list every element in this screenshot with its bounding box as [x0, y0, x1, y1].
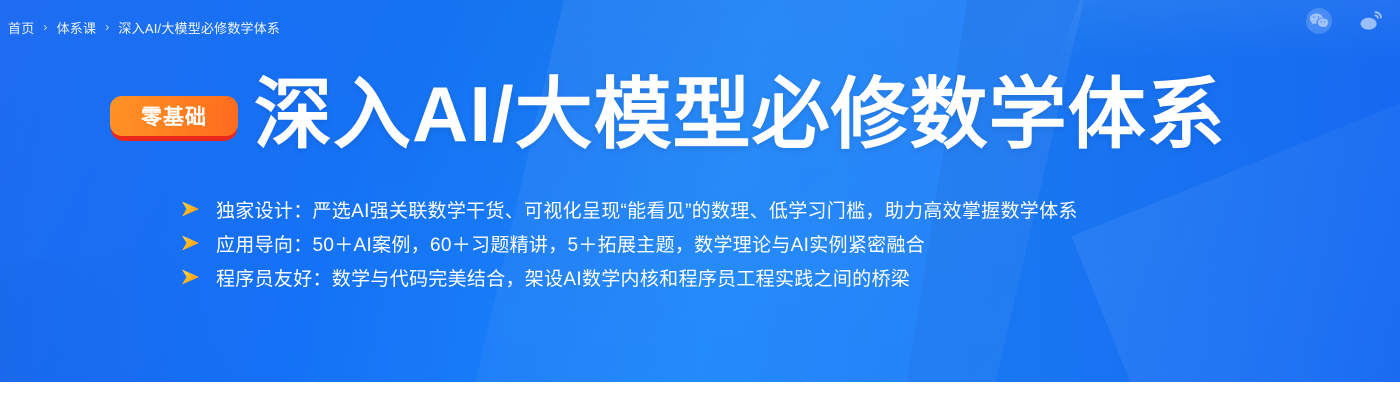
breadcrumb-item-current: 深入AI/大模型必修数学体系 [118, 18, 280, 37]
feature-item: 应用导向：50＋AI案例，60＋习题精讲，5＋拓展主题，数学理论与AI实例紧密融… [180, 226, 1078, 260]
level-badge-wrapper: 零基础 [110, 96, 238, 136]
breadcrumb-item-category[interactable]: 体系课 [57, 18, 97, 37]
breadcrumb-separator-icon: › [43, 21, 47, 33]
feature-item: 程序员友好：数学与代码完美结合，架设AI数学内核和程序员工程实践之间的桥梁 [180, 260, 1078, 294]
level-badge: 零基础 [110, 96, 238, 136]
arrow-bullet-icon [180, 200, 202, 218]
title-row: 零基础 深入AI/大模型必修数学体系 [110, 62, 1226, 166]
breadcrumb-separator-icon: › [105, 21, 109, 33]
background-facet-left [0, 0, 671, 382]
feature-item: 独家设计：严选AI强关联数学干货、可视化呈现“能看见”的数理、低学习门槛，助力高… [180, 192, 1078, 226]
background-facet-right-dark [885, 0, 1400, 382]
banner-page: 首页 › 体系课 › 深入AI/大模型必修数学体系 [0, 0, 1400, 400]
social-share-group [1304, 6, 1386, 36]
breadcrumb-item-home[interactable]: 首页 [8, 18, 34, 37]
feature-list: 独家设计：严选AI强关联数学干货、可视化呈现“能看见”的数理、低学习门槛，助力高… [180, 192, 1078, 294]
feature-text: 独家设计：严选AI强关联数学干货、可视化呈现“能看见”的数理、低学习门槛，助力高… [216, 196, 1078, 223]
feature-text: 程序员友好：数学与代码完美结合，架设AI数学内核和程序员工程实践之间的桥梁 [216, 264, 910, 291]
arrow-bullet-icon [180, 234, 202, 252]
background-facet-center [416, 0, 1144, 382]
page-title: 深入AI/大模型必修数学体系 [254, 75, 1226, 153]
course-hero-banner: 首页 › 体系课 › 深入AI/大模型必修数学体系 [0, 0, 1400, 382]
weibo-icon[interactable] [1356, 6, 1386, 36]
breadcrumb: 首页 › 体系课 › 深入AI/大模型必修数学体系 [8, 18, 280, 37]
background-facet-curve [250, 0, 1070, 360]
arrow-bullet-icon [180, 268, 202, 286]
hero-block: 零基础 深入AI/大模型必修数学体系 [110, 62, 1226, 166]
wechat-icon[interactable] [1304, 6, 1334, 36]
feature-text: 应用导向：50＋AI案例，60＋习题精讲，5＋拓展主题，数学理论与AI实例紧密融… [216, 230, 925, 257]
